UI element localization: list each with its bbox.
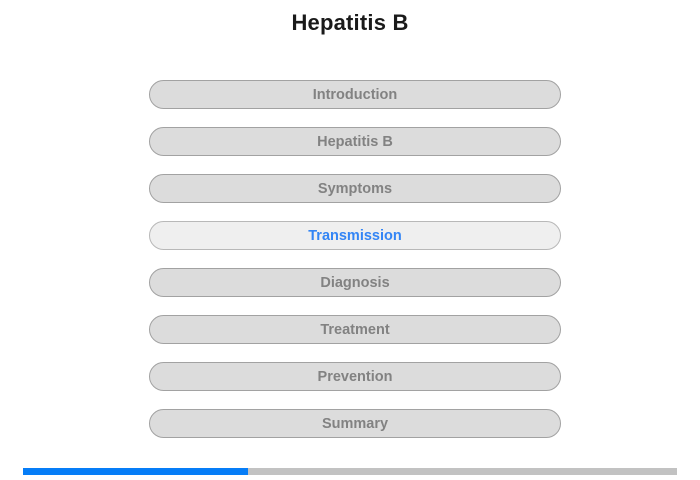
menu-item-hepatitis-b[interactable]: Hepatitis B: [149, 127, 561, 156]
menu-item-introduction[interactable]: Introduction: [149, 80, 561, 109]
slide-root: Hepatitis B Introduction Hepatitis B Sym…: [0, 0, 700, 480]
menu-item-summary[interactable]: Summary: [149, 409, 561, 438]
section-menu: Introduction Hepatitis B Symptoms Transm…: [149, 80, 561, 438]
menu-item-symptoms[interactable]: Symptoms: [149, 174, 561, 203]
menu-item-transmission[interactable]: Transmission: [149, 221, 561, 250]
menu-item-diagnosis[interactable]: Diagnosis: [149, 268, 561, 297]
page-title: Hepatitis B: [0, 9, 700, 37]
menu-item-treatment[interactable]: Treatment: [149, 315, 561, 344]
menu-item-prevention[interactable]: Prevention: [149, 362, 561, 391]
progress-bar-fill: [23, 468, 248, 475]
progress-bar[interactable]: [23, 468, 677, 475]
